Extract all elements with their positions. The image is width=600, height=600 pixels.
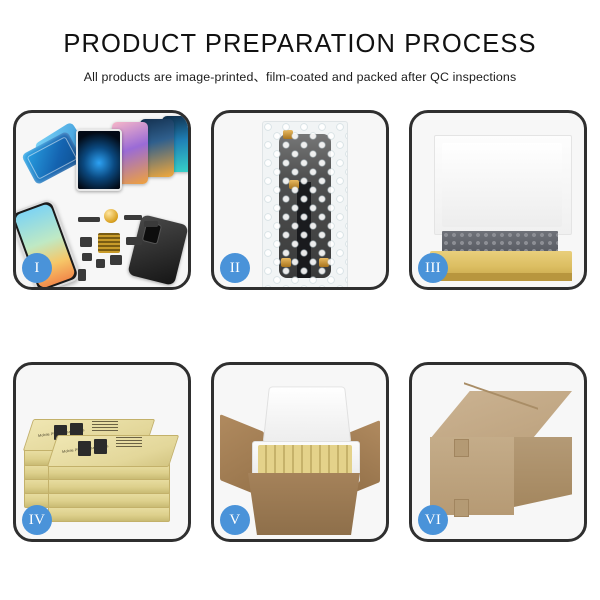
step-panel-1: I [13,110,191,290]
spare-part-connector-pad [98,233,120,253]
shipping-carton-side [514,437,572,507]
spare-part-chip-5 [126,237,142,245]
product-preparation-infographic: PRODUCT PREPARATION PROCESS All products… [0,0,600,600]
spare-part-chip-2 [82,253,92,261]
process-steps-grid: I II [13,110,587,542]
step-panel-5: V [211,362,389,542]
step-panel-3: III [409,110,587,290]
foam-lid-icon [263,387,352,444]
spare-part-chip-6 [78,269,86,281]
carton-tape-bottom [454,499,469,517]
step-panel-2: II [211,110,389,290]
header: PRODUCT PREPARATION PROCESS All products… [0,0,600,85]
spare-part-speaker-icon [104,209,118,223]
spare-part-chip-1 [80,237,92,247]
box-window-right-2 [94,439,107,454]
page-subtitle: All products are image-printed、film-coat… [0,67,600,85]
step-panel-6: VI [409,362,587,542]
spare-part-strip-1 [78,217,100,222]
spare-part-strip-2 [124,215,142,220]
inner-box-lid-inner [442,143,562,227]
phone-screen-a-icon [76,129,122,191]
step-panel-4: Mobile Phone Spare Parts Mobile Phone Sp… [13,362,191,542]
bubble-wrap-bag-icon [262,121,348,287]
packed-boxes-row-icon [258,445,352,477]
shipping-carton-top [430,391,572,439]
step-badge-2: II [220,253,250,283]
shipping-carton-front [430,437,514,515]
step-badge-3: III [418,253,448,283]
bubble-texture [263,122,347,287]
step-badge-4: IV [22,505,52,535]
carton-body-icon [248,473,360,535]
spare-part-chip-3 [96,259,105,268]
carton-tape-top [454,439,469,457]
spare-part-strip-3 [144,221,158,227]
page-title: PRODUCT PREPARATION PROCESS [0,30,600,58]
box-window-right-1 [78,441,91,456]
step-badge-1: I [22,253,52,283]
kraft-tray-side [430,273,572,281]
spare-part-chip-4 [110,255,122,265]
box-text-lines-right [116,437,142,449]
box-text-lines-left [92,421,118,433]
step-badge-5: V [220,505,250,535]
step-badge-6: VI [418,505,448,535]
